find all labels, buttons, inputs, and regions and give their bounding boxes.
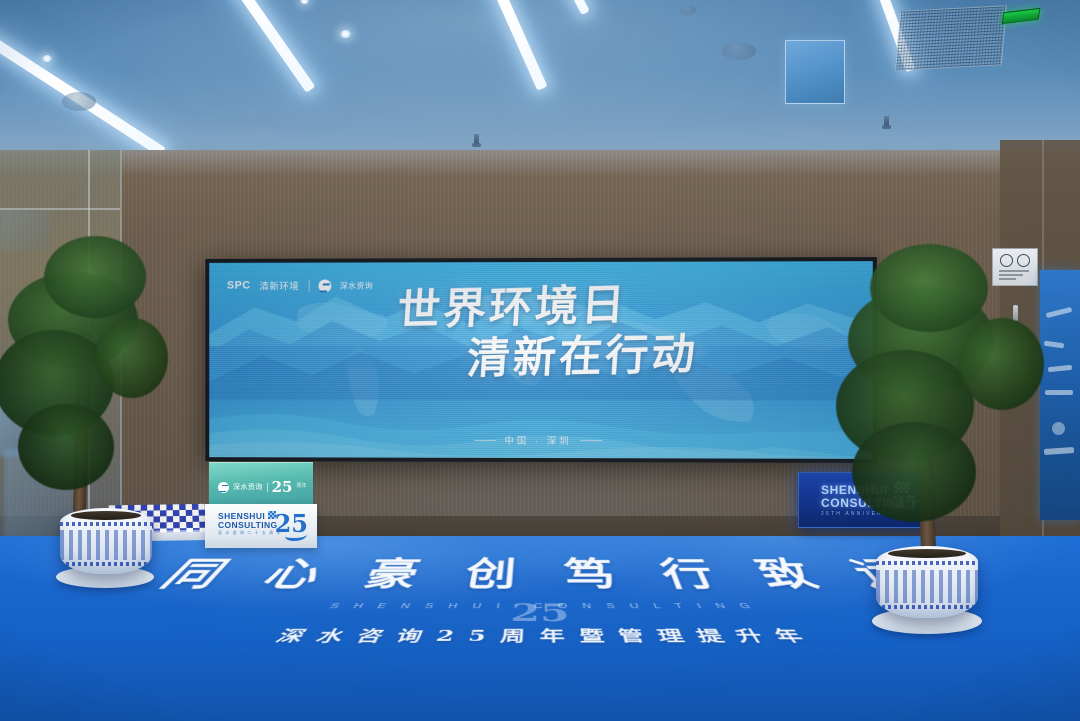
display-podium: 深水资询 25 周年 SHENSHUI CONSULTING 深 水 咨 询 二… bbox=[205, 462, 317, 548]
sign-text-line-1 bbox=[999, 270, 1029, 272]
subtitle-rule-right bbox=[580, 440, 602, 441]
plant-left-foot-pattern bbox=[60, 562, 152, 566]
poster-shape-1 bbox=[1046, 307, 1072, 318]
ceiling-skylight bbox=[785, 40, 845, 104]
headline-line-2: 清新在行动 bbox=[250, 328, 872, 387]
plant-left-foliage-4 bbox=[18, 404, 114, 490]
poster-shape-5 bbox=[1044, 447, 1074, 455]
poster-shape-4 bbox=[1045, 390, 1073, 395]
plant-right-foliage-5 bbox=[960, 318, 1044, 410]
ceiling-speaker-3 bbox=[680, 5, 696, 15]
plant-right-soil bbox=[888, 549, 966, 558]
plant-left-porcelain-pattern bbox=[60, 530, 152, 560]
plant-left-foliage-5 bbox=[96, 318, 168, 398]
subtitle-text: 中国 · 深圳 bbox=[504, 433, 571, 447]
plant-left-foliage-3 bbox=[44, 236, 146, 318]
wall-notice-sign bbox=[992, 248, 1038, 286]
sign-text-line-2 bbox=[999, 274, 1023, 276]
no-entry-icon bbox=[1017, 254, 1030, 267]
scene-root: SPC 清新环境 深水资询 世界环境日 清新在行动 中国 · 深圳 bbox=[0, 0, 1080, 721]
ceiling-speaker-1 bbox=[62, 92, 96, 111]
podium-swoosh-icon bbox=[285, 530, 307, 541]
ceiling-speaker-2 bbox=[722, 42, 756, 60]
podium-logo-cn: 深水资询 bbox=[233, 482, 263, 492]
podium-anniversary-cn: 周年 bbox=[296, 484, 306, 490]
poster-badge-icon bbox=[1052, 422, 1065, 435]
plant-right-planter bbox=[876, 546, 978, 618]
podium-upper-panel: 深水资询 25 周年 bbox=[209, 462, 313, 506]
right-wall-digital-poster bbox=[1040, 270, 1080, 520]
ceiling-downlight-1 bbox=[42, 55, 52, 62]
sign-text-line-3 bbox=[999, 278, 1016, 280]
poster-shape-2 bbox=[1044, 341, 1065, 349]
glass-reflection-3 bbox=[0, 210, 50, 250]
screen-location-subtitle: 中国 · 深圳 bbox=[209, 432, 873, 447]
no-smoking-icon bbox=[1000, 254, 1013, 267]
podium-lower-panel: SHENSHUI CONSULTING 深 水 咨 询 二 十 五 周 年 25 bbox=[205, 504, 317, 548]
subtitle-rule-left bbox=[474, 439, 496, 440]
plant-right-rim-pattern bbox=[876, 561, 978, 565]
ceiling-downlight-2 bbox=[340, 30, 351, 38]
plant-right-foot-pattern bbox=[876, 605, 978, 609]
headline-line-1: 世界环境日 bbox=[209, 277, 848, 339]
plant-left-soil bbox=[71, 511, 141, 520]
plant-right-porcelain-pattern bbox=[876, 570, 978, 603]
podium-logo-row: 深水资询 25 周年 bbox=[218, 478, 307, 496]
ceiling-sprinkler-3 bbox=[884, 116, 889, 126]
plant-right-foliage-3 bbox=[870, 244, 988, 332]
podium-brand-line-3: 深 水 咨 询 二 十 五 周 年 bbox=[218, 530, 282, 536]
led-screen-content: SPC 清新环境 深水资询 世界环境日 清新在行动 中国 · 深圳 bbox=[209, 261, 873, 459]
plant-right-foliage-4 bbox=[852, 422, 976, 522]
poster-shape-3 bbox=[1048, 365, 1072, 372]
ceiling-air-vent bbox=[895, 5, 1007, 70]
door-handle[interactable] bbox=[1013, 305, 1018, 321]
screen-headline: 世界环境日 清新在行动 bbox=[209, 285, 873, 380]
plant-left-planter bbox=[60, 508, 152, 574]
ceiling-sprinkler-2 bbox=[474, 134, 479, 144]
led-video-wall[interactable]: SPC 清新环境 深水资询 世界环境日 清新在行动 中国 · 深圳 bbox=[205, 257, 877, 463]
podium-logo-icon bbox=[218, 482, 229, 493]
podium-brand-line-2: CONSULTING bbox=[218, 520, 278, 530]
plant-left-rim-pattern bbox=[60, 522, 152, 526]
water-waves bbox=[209, 398, 873, 459]
podium-logo-divider bbox=[267, 483, 268, 492]
podium-anniversary-number: 25 bbox=[272, 478, 293, 496]
